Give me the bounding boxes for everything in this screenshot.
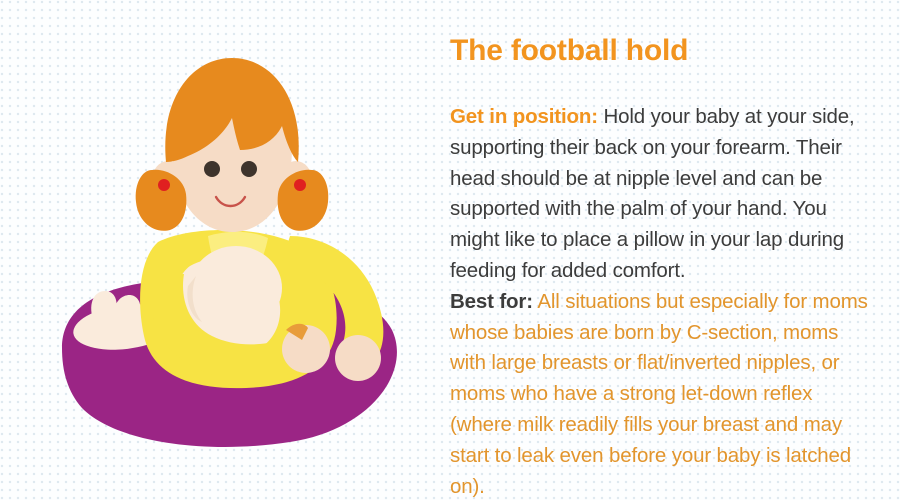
paragraph-body-get-in-position: Hold your baby at your side, supporting …	[450, 105, 855, 282]
mother-hand-right	[335, 335, 381, 381]
paragraph-best-for: Best for: All situations but especially …	[450, 287, 875, 500]
lead-in-get-in-position: Get in position:	[450, 105, 598, 128]
infographic-card: The football hold Get in position: Hold …	[0, 0, 900, 500]
mother-earring-left	[158, 179, 170, 191]
lead-in-best-for: Best for:	[450, 290, 533, 313]
mother-eye-right	[241, 161, 257, 177]
page-title: The football hold	[450, 34, 875, 68]
mother-eye-left	[204, 161, 220, 177]
text-column: The football hold Get in position: Hold …	[450, 34, 875, 500]
paragraph-body-best-for: All situations but especially for moms w…	[450, 290, 868, 498]
mother-earring-right	[294, 179, 306, 191]
illustration-football-hold	[40, 30, 410, 470]
paragraph-get-in-position: Get in position: Hold your baby at your …	[450, 102, 875, 287]
